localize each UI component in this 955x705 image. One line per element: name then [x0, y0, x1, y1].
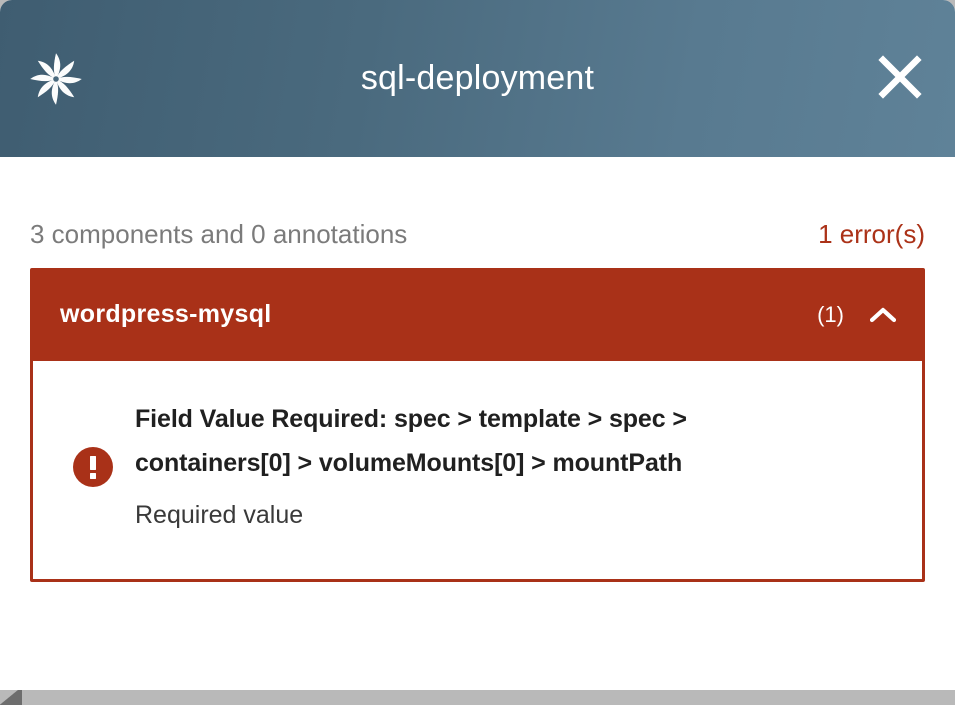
summary-row: 3 components and 0 annotations 1 error(s…	[30, 157, 925, 268]
validation-group-title: wordpress-mysql	[60, 300, 272, 329]
error-text-block: Field Value Required: spec > template > …	[135, 397, 892, 537]
error-count-label: 1 error(s)	[818, 219, 925, 250]
list-item[interactable]: Field Value Required: spec > template > …	[69, 397, 892, 537]
error-detail: Required value	[135, 493, 802, 537]
page-title: sql-deployment	[0, 59, 955, 98]
modal-body: 3 components and 0 annotations 1 error(s…	[0, 157, 955, 644]
validation-group-content: Field Value Required: spec > template > …	[33, 361, 922, 579]
error-exclamation-icon	[73, 447, 113, 487]
validation-group-header[interactable]: wordpress-mysql (1)	[30, 268, 925, 361]
severity-icon-wrap	[69, 447, 135, 487]
close-icon	[877, 54, 923, 103]
close-button[interactable]	[873, 52, 927, 106]
validation-group-count: (1)	[817, 302, 844, 328]
validation-results-modal-screen: sql-deployment 3 components and 0 annota…	[0, 0, 955, 705]
modal-bottom-spacer	[30, 582, 925, 644]
modal-dialog: sql-deployment 3 components and 0 annota…	[0, 0, 955, 690]
chevron-up-icon[interactable]	[870, 307, 896, 323]
modal-header: sql-deployment	[0, 0, 955, 157]
components-summary-label: 3 components and 0 annotations	[30, 219, 407, 250]
validation-group: wordpress-mysql (1)	[30, 268, 925, 582]
monokle-pinwheel-logo-icon	[28, 51, 84, 107]
error-title: Field Value Required: spec > template > …	[135, 397, 802, 485]
validation-group-meta: (1)	[817, 302, 896, 328]
